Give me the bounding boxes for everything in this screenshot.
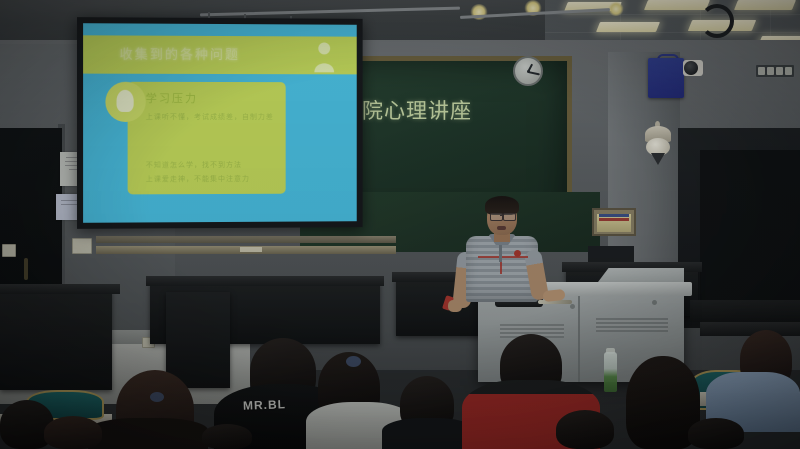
- slide-body-line: 上课爱走神，不能集中注意力: [146, 174, 250, 184]
- shirt-stripe: [478, 256, 528, 258]
- framed-sign: [592, 208, 636, 236]
- wall-outlet[interactable]: [2, 244, 16, 257]
- camera-lens: [684, 61, 698, 75]
- switch[interactable]: [758, 67, 765, 75]
- bench-desk-top: [146, 276, 384, 286]
- eyeglasses-icon: [503, 213, 516, 221]
- audience-head: [556, 410, 614, 449]
- slide-title: 收集到的各种问题: [120, 44, 240, 64]
- lectern-lock[interactable]: [652, 300, 657, 305]
- audience-head: [202, 424, 252, 449]
- side-bench-top: [0, 284, 120, 294]
- lectern-vent: [596, 318, 668, 332]
- right-bench-lower: [700, 322, 800, 336]
- sign-bar: [599, 218, 629, 221]
- chalk-piece[interactable]: [240, 247, 262, 252]
- switch[interactable]: [776, 67, 783, 75]
- hair-clip: [346, 356, 361, 367]
- speaker-mouth: [497, 226, 506, 230]
- ceiling-cable: [700, 4, 734, 38]
- slide-body-line: 不知道怎么学，找不到方法: [146, 160, 242, 170]
- switch[interactable]: [767, 67, 774, 75]
- audience-shoulders: [88, 418, 208, 449]
- blue-wall-unit: [648, 58, 684, 98]
- eyeglasses-bridge: [500, 215, 504, 216]
- ceiling-grid-line: [545, 14, 800, 15]
- light-glow: [608, 2, 624, 16]
- switch[interactable]: [785, 67, 792, 75]
- chalk-tray: [96, 236, 396, 243]
- projection-screen: 收集到的各种问题 学习压力 上课听不懂，考试成绩差，自制力差 不知道怎么学，找不…: [77, 17, 363, 229]
- side-bench: [0, 290, 112, 390]
- lightbulb-glass: [117, 90, 134, 112]
- framed-sign-face: [597, 214, 631, 232]
- wall-clock: [513, 56, 543, 86]
- clock-center: [527, 70, 530, 73]
- lectern-door-split: [578, 296, 580, 382]
- slide: 收集到的各种问题 学习压力 上课听不懂，考试成绩差，自制力差 不知道怎么学，找不…: [83, 23, 357, 223]
- shirt-logo: [514, 250, 521, 257]
- ceiling-light-panel: [644, 0, 710, 10]
- shirt-placket: [499, 242, 502, 262]
- water-bottle[interactable]: [604, 352, 617, 392]
- light-switch-panel[interactable]: [72, 238, 92, 254]
- audience-head: [44, 416, 102, 449]
- slide-body-line: 上课听不懂，考试成绩差，自制力差: [146, 112, 274, 122]
- person-icon: [311, 40, 337, 72]
- audience-head: [688, 418, 744, 449]
- ceiling-grid-line: [545, 32, 800, 33]
- slide-heading: 学习压力: [146, 90, 198, 106]
- right-bench: [690, 300, 800, 322]
- switch-panel[interactable]: [755, 64, 795, 78]
- speaker-left-hand: [448, 300, 462, 312]
- side-bench: [166, 292, 230, 388]
- ceiling-light-panel: [734, 0, 796, 10]
- classroom-lecture-photo: 港航院心理讲座: [0, 0, 800, 449]
- hair-clip: [150, 392, 164, 402]
- lectern-lock[interactable]: [570, 304, 575, 309]
- sign-bar: [599, 214, 629, 217]
- clock-minute-hand: [528, 71, 540, 75]
- door-handle[interactable]: [24, 258, 28, 280]
- shirt-text: MR.BL: [243, 397, 286, 412]
- ceiling-light-panel: [596, 22, 660, 32]
